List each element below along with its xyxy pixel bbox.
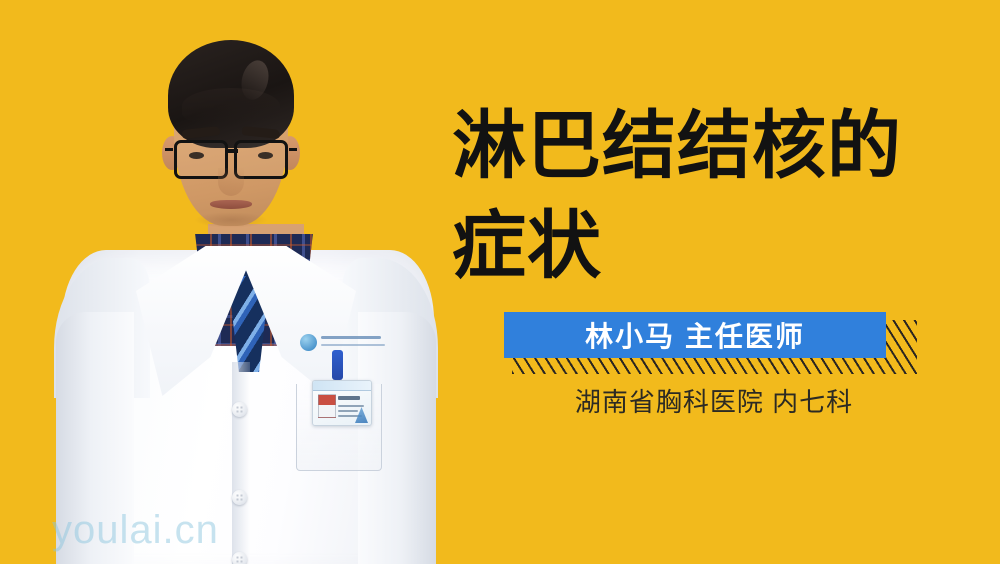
doctor-affiliation: 湖南省胸科医院 内七科	[504, 382, 924, 419]
mouth	[210, 200, 252, 209]
coat-button	[232, 402, 247, 417]
doctor-name-text: 林小马 主任医师	[585, 315, 805, 355]
poster-canvas: youlai.cn 淋巴结结核的 症状 林小马 主任医师 湖南省胸科医院 内七科	[0, 0, 1000, 564]
badge-header	[313, 381, 371, 391]
badge-text-line	[338, 410, 358, 412]
coat-button	[232, 490, 247, 505]
chin-shadow	[194, 212, 268, 228]
badge-text-line	[338, 405, 364, 407]
id-badge	[312, 380, 372, 426]
glasses-temple-left	[165, 148, 173, 151]
page-title: 淋巴结结核的 症状	[452, 96, 972, 296]
badge-text-line	[338, 396, 360, 400]
globe-icon	[300, 334, 317, 351]
coat-button	[232, 552, 247, 564]
doctor-photo: youlai.cn	[0, 0, 460, 564]
glasses-temple-right	[289, 148, 297, 151]
site-watermark: youlai.cn	[52, 508, 219, 553]
doctor-name-banner: 林小马 主任医师	[504, 312, 916, 374]
badge-clip	[332, 350, 343, 380]
glasses-bridge	[225, 149, 238, 153]
coat-placket	[232, 362, 250, 564]
nose	[218, 168, 244, 196]
badge-photo	[318, 394, 336, 418]
name-bar: 林小马 主任医师	[504, 312, 886, 358]
doctor-head	[168, 40, 294, 240]
logo-text-line	[321, 344, 385, 346]
hospital-logo-icon	[300, 332, 386, 354]
logo-text-line	[321, 336, 381, 339]
